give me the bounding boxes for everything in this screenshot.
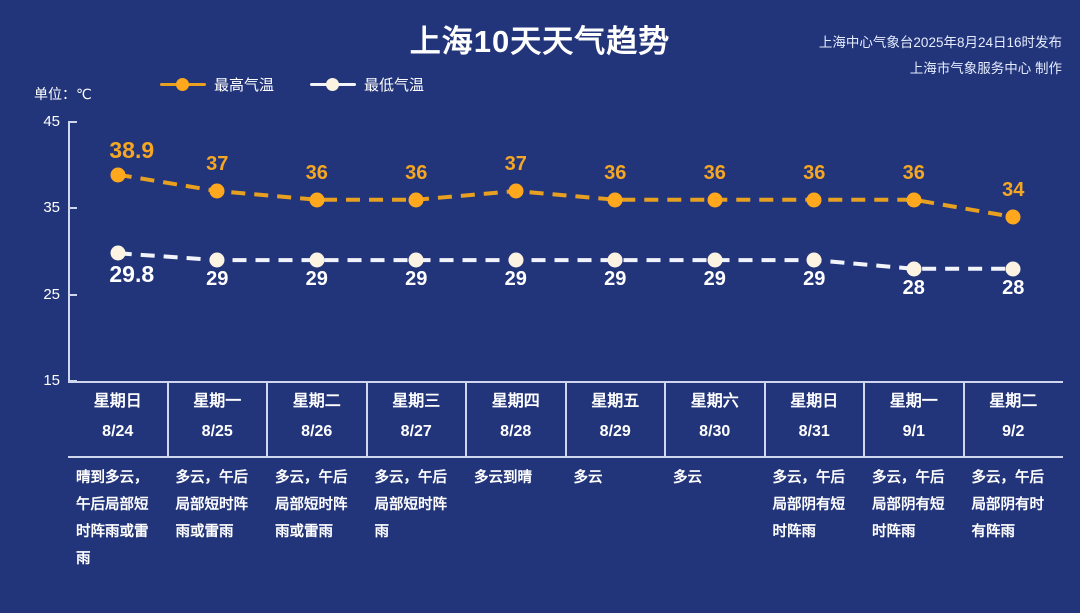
weekday-label: 星期二 [964,387,1064,417]
date-label: 8/31 [765,417,865,447]
data-point-low [1006,261,1021,276]
table-cell-description: 多云，午后局部短时阵雨或雷雨 [275,465,359,546]
data-label-low: 28 [903,277,925,300]
data-label-high: 37 [206,153,228,176]
data-label-low: 29.8 [109,261,154,288]
data-point-low [807,253,822,268]
weekday-label: 星期五 [566,387,666,417]
data-label-high: 36 [803,162,825,185]
weekday-label: 星期四 [466,387,566,417]
data-label-high: 36 [903,162,925,185]
table-cell-day: 星期五8/29 [566,387,666,447]
table-cell-description: 多云，午后局部阴有短时阵雨 [872,465,956,546]
data-point-high [309,192,324,207]
table-cell-description: 多云，午后局部阴有时有阵雨 [972,465,1056,546]
legend-marker-high-icon [160,77,206,91]
table-cell-day: 星期日8/31 [765,387,865,447]
data-label-high: 36 [405,162,427,185]
unit-label: 单位：℃ [34,84,92,104]
issuer-line-1: 上海中心气象台2025年8月24日16时发布 [819,30,1062,56]
data-point-low [110,246,125,261]
data-point-low [309,253,324,268]
table-cell-day: 星期一9/1 [864,387,964,447]
table-cell-day: 星期二8/26 [267,387,367,447]
series-line-high [118,175,1014,217]
data-point-high [906,192,921,207]
data-point-low [906,261,921,276]
data-point-high [1006,209,1021,224]
legend-item-low-temp: 最低气温 [310,72,424,96]
weekday-label: 星期六 [665,387,765,417]
weekday-label: 星期三 [367,387,467,417]
y-axis-tick-label: 45 [24,113,60,130]
table-cell-day: 星期四8/28 [466,387,566,447]
y-axis-tick-label: 35 [24,199,60,216]
date-label: 8/24 [68,417,168,447]
table-cell-description: 多云到晴 [474,465,558,492]
data-label-low: 29 [604,268,626,291]
data-point-high [110,167,125,182]
table-cell-day: 星期三8/27 [367,387,467,447]
issuer-info: 上海中心气象台2025年8月24日16时发布 上海市气象服务中心 制作 [819,30,1062,82]
table-cell-day: 星期一8/25 [168,387,268,447]
data-label-high: 34 [1002,179,1024,202]
table-cell-description: 多云，午后局部阴有短时阵雨 [773,465,857,546]
data-point-low [508,253,523,268]
y-axis-tick-label: 25 [24,286,60,303]
data-point-low [210,253,225,268]
table-cell-description: 多云 [673,465,757,492]
date-label: 8/25 [168,417,268,447]
weekday-label: 星期日 [765,387,865,417]
table-cell-description: 晴到多云，午后局部短时阵雨或雷雨 [76,465,160,573]
data-point-high [707,192,722,207]
data-label-high: 36 [306,162,328,185]
data-label-high: 36 [604,162,626,185]
table-cell-day: 星期二9/2 [964,387,1064,447]
data-label-low: 29 [803,268,825,291]
data-point-high [508,184,523,199]
date-label: 8/28 [466,417,566,447]
forecast-table: 星期日8/24晴到多云，午后局部短时阵雨或雷雨星期一8/25多云，午后局部短时阵… [68,381,1063,603]
table-row-divider [68,456,1063,458]
data-point-low [707,253,722,268]
table-cell-day: 星期六8/30 [665,387,765,447]
issuer-line-2: 上海市气象服务中心 制作 [819,56,1062,82]
date-label: 9/1 [864,417,964,447]
data-point-low [608,253,623,268]
date-label: 9/2 [964,417,1064,447]
weekday-label: 星期二 [267,387,367,417]
weekday-label: 星期日 [68,387,168,417]
chart-plot-area: 45352515 38.937363637363636363429.829292… [68,122,1063,381]
data-point-high [807,192,822,207]
data-label-low: 28 [1002,277,1024,300]
table-cell-description: 多云，午后局部短时阵雨 [375,465,459,546]
data-label-low: 29 [306,268,328,291]
weekday-label: 星期一 [168,387,268,417]
data-point-low [409,253,424,268]
data-label-low: 29 [405,268,427,291]
data-point-high [409,192,424,207]
data-label-low: 29 [704,268,726,291]
data-point-high [608,192,623,207]
weather-trend-infographic: 上海10天天气趋势 上海中心气象台2025年8月24日16时发布 上海市气象服务… [0,0,1080,613]
legend-label-high: 最高气温 [214,74,274,95]
y-axis-tick-label: 15 [24,372,60,389]
legend-item-high-temp: 最高气温 [160,72,274,96]
date-label: 8/26 [267,417,367,447]
data-label-high: 37 [505,153,527,176]
series-line-low [118,253,1014,269]
data-label-high: 36 [704,162,726,185]
weekday-label: 星期一 [864,387,964,417]
table-cell-day: 星期日8/24 [68,387,168,447]
table-cell-description: 多云，午后局部短时阵雨或雷雨 [176,465,260,546]
data-point-high [210,184,225,199]
table-cell-description: 多云 [574,465,658,492]
date-label: 8/27 [367,417,467,447]
data-label-high: 38.9 [109,137,154,164]
legend-marker-low-icon [310,77,356,91]
data-label-low: 29 [505,268,527,291]
date-label: 8/30 [665,417,765,447]
date-label: 8/29 [566,417,666,447]
data-label-low: 29 [206,268,228,291]
legend-label-low: 最低气温 [364,74,424,95]
